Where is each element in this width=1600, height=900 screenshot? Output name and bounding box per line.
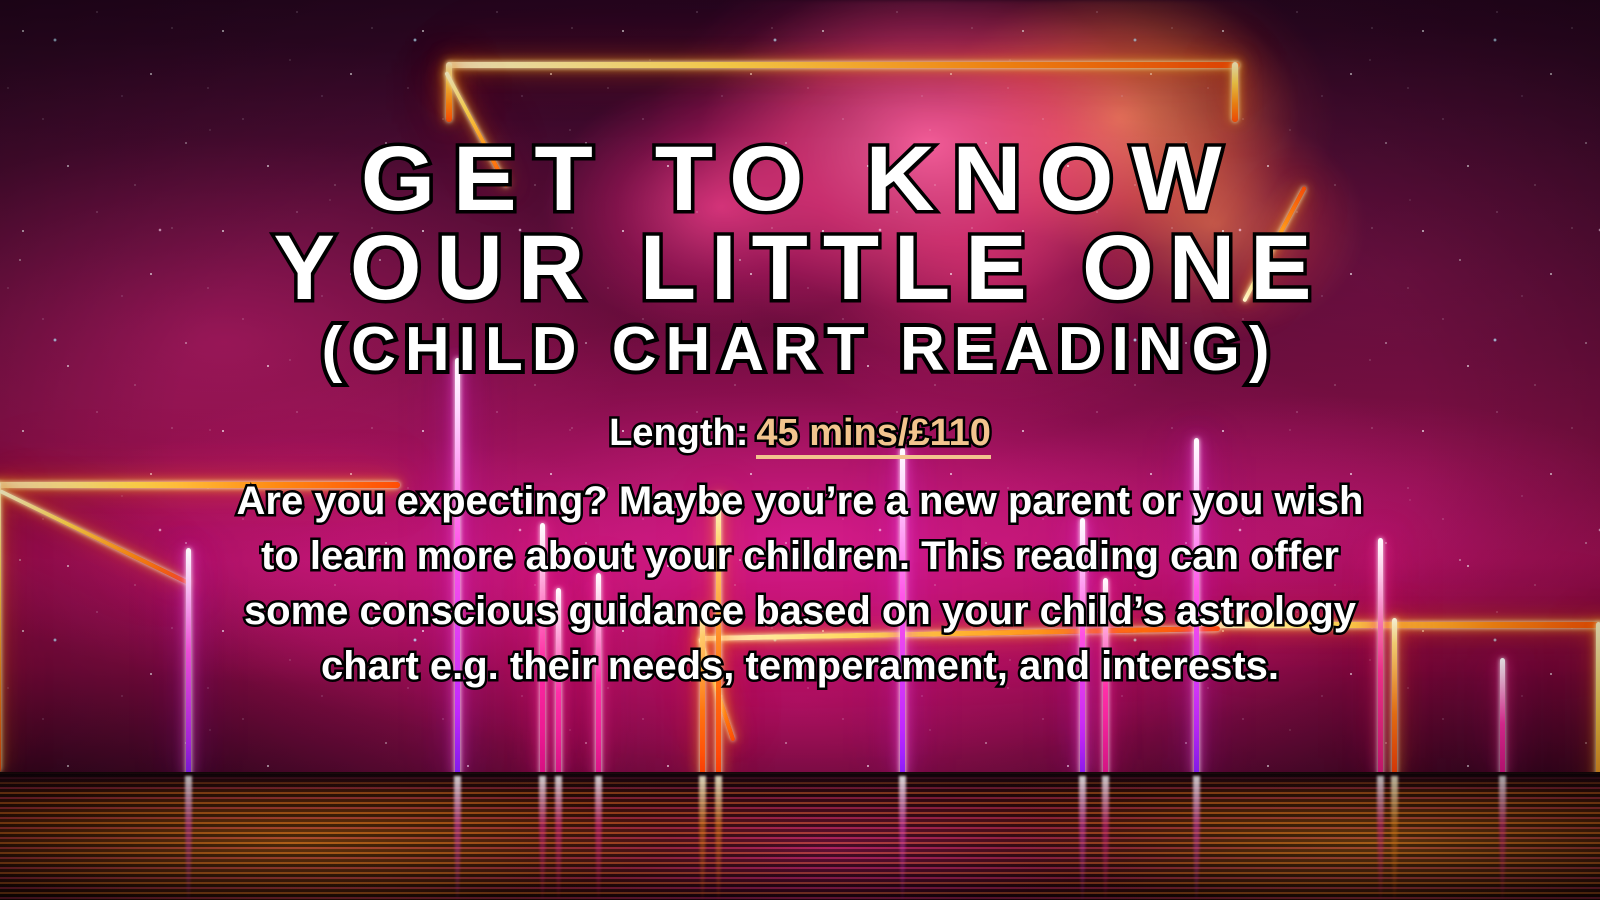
length-value: 45 mins/£110 [756,412,991,459]
poster-canvas: GET TO KNOW YOUR LITTLE ONE (CHILD CHART… [0,0,1600,900]
description-line-4: chart e.g. their needs, temperament, and… [120,639,1480,694]
length-row: Length:45 mins/£110 [609,414,991,452]
description-line-1: Are you expecting? Maybe you’re a new pa… [120,474,1480,529]
length-label: Length: [609,412,748,454]
description-line-2: to learn more about your children. This … [120,529,1480,584]
description-line-3: some conscious guidance based on your ch… [120,584,1480,639]
title-line-2: YOUR LITTLE ONE [0,225,1600,312]
poster-heading: GET TO KNOW YOUR LITTLE ONE (CHILD CHART… [0,136,1600,380]
title-line-1: GET TO KNOW [0,136,1600,223]
title-subtitle: (CHILD CHART READING) [0,321,1600,380]
poster-content: GET TO KNOW YOUR LITTLE ONE (CHILD CHART… [0,0,1600,900]
description-paragraph: Are you expecting? Maybe you’re a new pa… [120,474,1480,695]
